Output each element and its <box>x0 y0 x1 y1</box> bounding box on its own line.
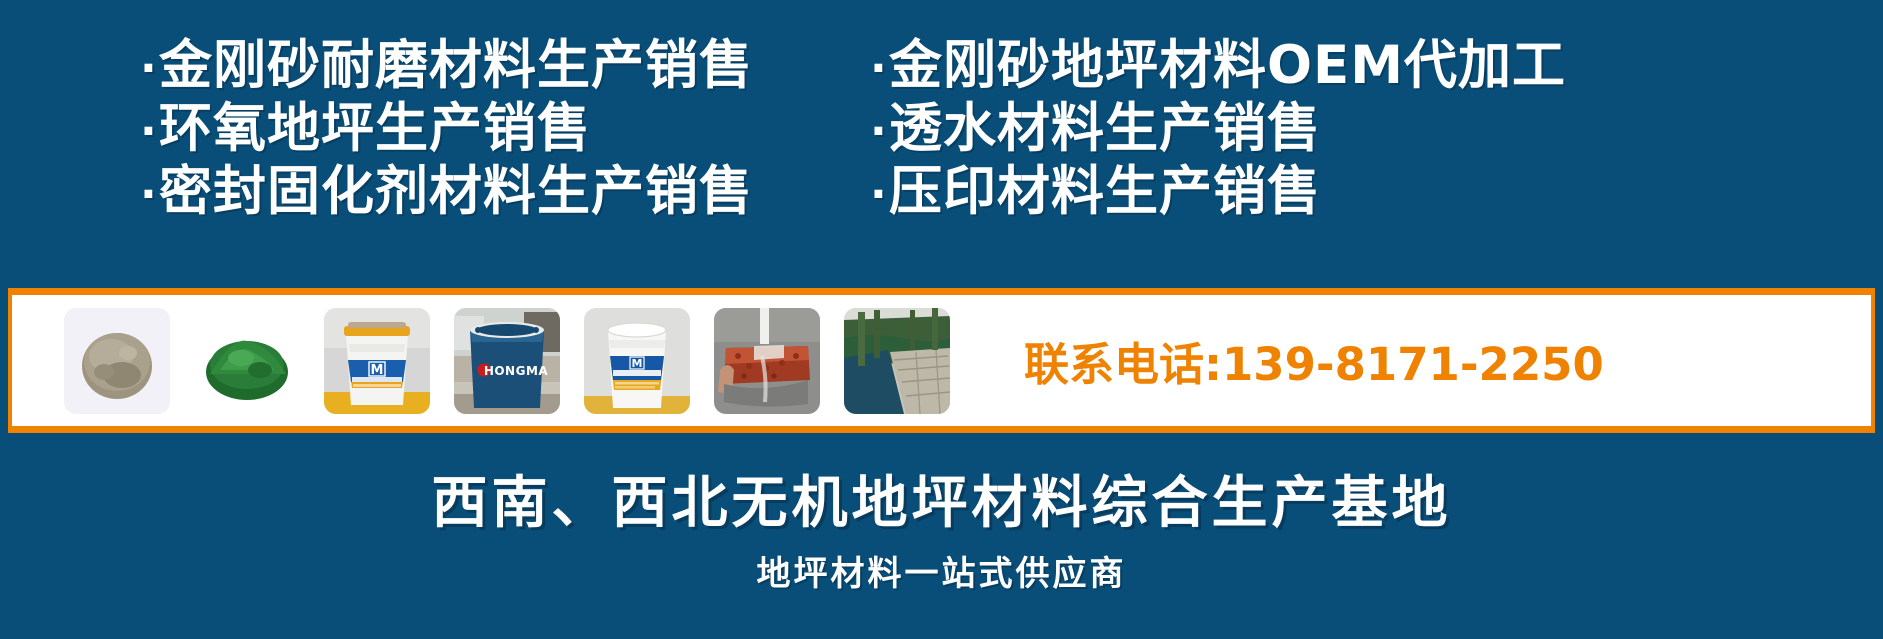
svg-text:M: M <box>632 357 643 370</box>
bullet-dot-icon: · <box>870 100 889 163</box>
bullet-dot-icon: · <box>140 37 159 100</box>
service-label: 透水材料生产销售 <box>889 97 1321 160</box>
promotional-banner: · 金刚砂耐磨材料生产销售 · 环氧地坪生产销售 · 密封固化剂材料生产销售 ·… <box>0 0 1883 639</box>
service-label: 压印材料生产销售 <box>889 160 1321 223</box>
service-label: 密封固化剂材料生产销售 <box>159 160 753 223</box>
services-right-column: · 金刚砂地坪材料OEM代加工 · 透水材料生产销售 · 压印材料生产销售 <box>870 34 1610 288</box>
product-thumbnail-list: M <box>12 295 950 426</box>
service-item-oem-processing: · 金刚砂地坪材料OEM代加工 <box>870 34 1610 97</box>
gray-abrasive-powder-photo <box>64 308 170 414</box>
service-label: 金刚砂地坪材料OEM代加工 <box>889 34 1566 97</box>
green-abrasive-powder-photo <box>194 308 300 414</box>
service-label: 金刚砂耐磨材料生产销售 <box>159 34 753 97</box>
service-item-epoxy-floor-sales: · 环氧地坪生产销售 <box>140 97 870 160</box>
permeable-concrete-sample-photo <box>714 308 820 414</box>
page-title: 西南、西北无机地坪材料综合生产基地 <box>432 468 1452 540</box>
svg-text:HONGMA: HONGMA <box>484 364 549 378</box>
page-subtitle: 地坪材料一站式供应商 <box>757 552 1127 596</box>
service-item-sealer-sales: · 密封固化剂材料生产销售 <box>140 160 870 223</box>
service-item-stamped-sales: · 压印材料生产销售 <box>870 160 1610 223</box>
services-left-column: · 金刚砂耐磨材料生产销售 · 环氧地坪生产销售 · 密封固化剂材料生产销售 <box>140 34 870 288</box>
bullet-dot-icon: · <box>140 100 159 163</box>
services-section: · 金刚砂耐磨材料生产销售 · 环氧地坪生产销售 · 密封固化剂材料生产销售 ·… <box>0 0 1883 288</box>
sealer-bucket-photo: M <box>324 308 430 414</box>
footer-section: 西南、西北无机地坪材料综合生产基地 地坪材料一站式供应商 <box>0 433 1883 639</box>
stamped-walkway-photo <box>844 308 950 414</box>
hongma-drum-photo: HONGMA <box>454 308 560 414</box>
contact-phone[interactable]: 联系电话:139-8171-2250 <box>1024 328 1604 393</box>
service-item-abrasive-sales: · 金刚砂耐磨材料生产销售 <box>140 34 870 97</box>
bullet-dot-icon: · <box>140 163 159 226</box>
service-item-permeable-sales: · 透水材料生产销售 <box>870 97 1610 160</box>
epoxy-coating-bucket-photo: M <box>584 308 690 414</box>
bullet-dot-icon: · <box>870 163 889 226</box>
bullet-dot-icon: · <box>870 37 889 100</box>
product-strip: M <box>8 288 1875 433</box>
svg-text:M: M <box>371 363 384 378</box>
service-label: 环氧地坪生产销售 <box>159 97 591 160</box>
